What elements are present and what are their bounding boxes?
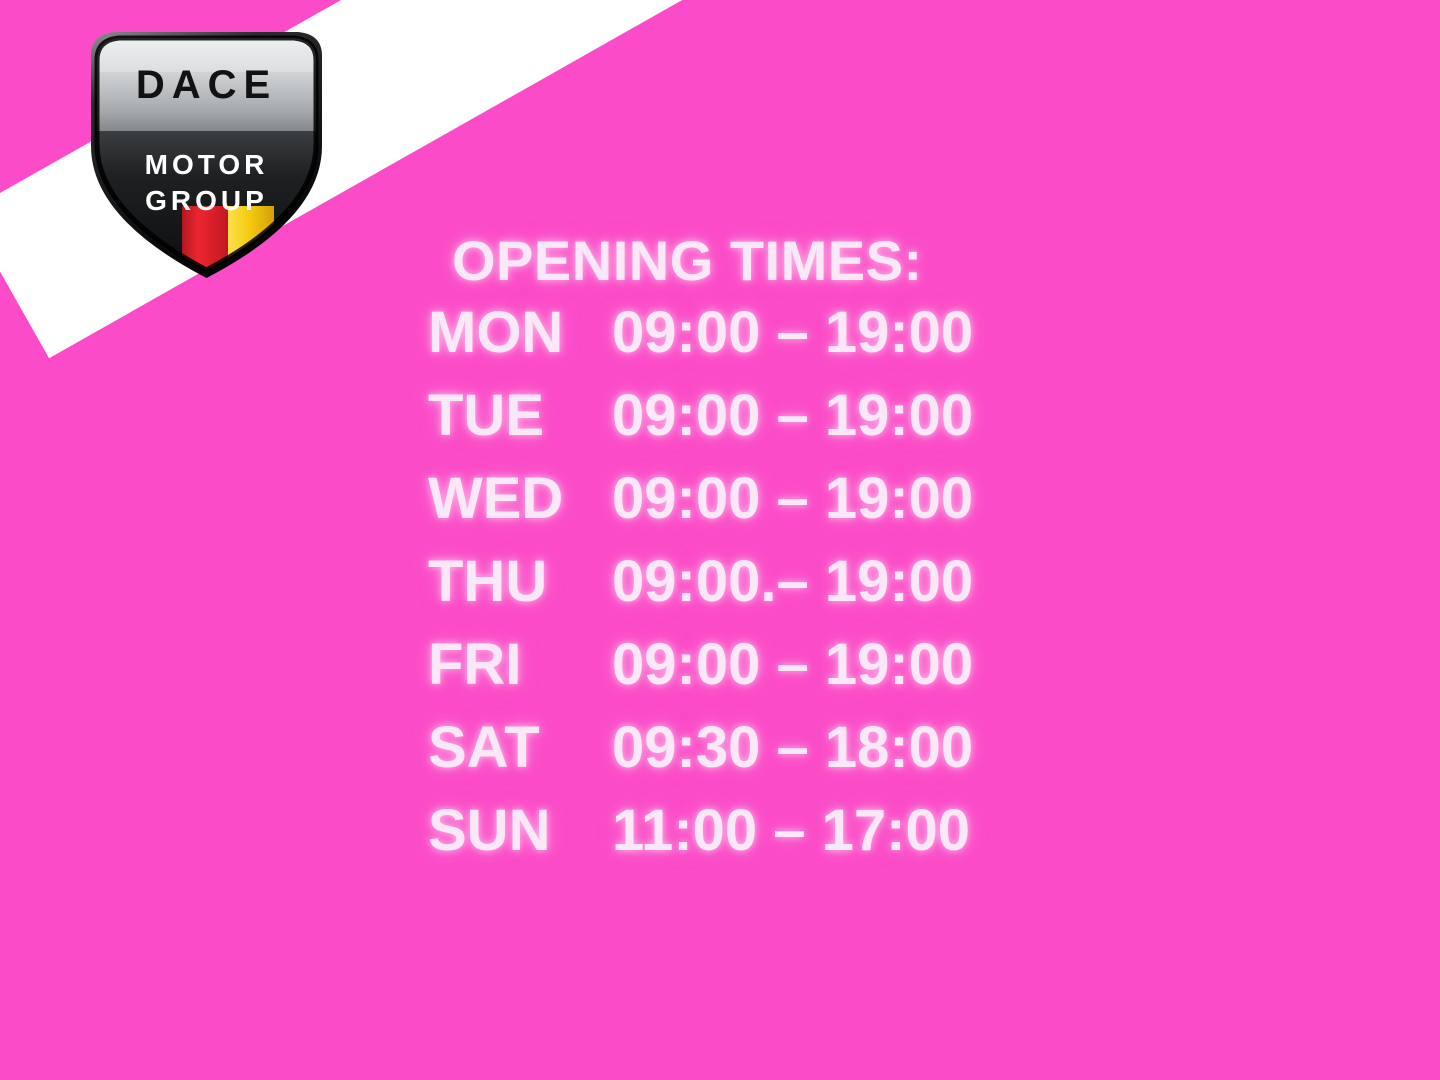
day-label: THU — [428, 548, 612, 615]
opening-times-title: OPENING TIMES: — [452, 228, 1440, 293]
day-label: MON — [428, 299, 612, 366]
opening-times-block: OPENING TIMES: MON 09:00 – 19:00 TUE 09:… — [0, 228, 1440, 880]
opening-times-poster: DACE MOTOR GROUP OPENING TIMES: MON 09:0… — [0, 0, 1440, 1080]
hours-value: 09:00 – 19:00 — [612, 382, 973, 449]
hours-value: 11:00 – 17:00 — [612, 797, 970, 864]
logo-text-dace: DACE — [136, 63, 277, 107]
logo-text-group: GROUP — [145, 185, 268, 216]
hours-value: 09:00 – 19:00 — [612, 465, 973, 532]
day-label: FRI — [428, 631, 612, 698]
hours-value: 09:30 – 18:00 — [612, 714, 973, 781]
day-label: SUN — [428, 797, 612, 864]
opening-times-row-fri: FRI 09:00 – 19:00 — [0, 631, 1440, 714]
logo-text-motor: MOTOR — [145, 149, 269, 180]
opening-times-row-thu: THU 09:00.– 19:00 — [0, 548, 1440, 631]
opening-times-row-wed: WED 09:00 – 19:00 — [0, 465, 1440, 548]
hours-value: 09:00.– 19:00 — [612, 548, 973, 615]
opening-times-row-mon: MON 09:00 – 19:00 — [0, 299, 1440, 382]
opening-times-list: MON 09:00 – 19:00 TUE 09:00 – 19:00 WED … — [0, 299, 1440, 880]
hours-value: 09:00 – 19:00 — [612, 299, 973, 366]
day-label: SAT — [428, 714, 612, 781]
day-label: TUE — [428, 382, 612, 449]
opening-times-row-sun: SUN 11:00 – 17:00 — [0, 797, 1440, 880]
day-label: WED — [428, 465, 612, 532]
opening-times-row-sat: SAT 09:30 – 18:00 — [0, 714, 1440, 797]
opening-times-row-tue: TUE 09:00 – 19:00 — [0, 382, 1440, 465]
hours-value: 09:00 – 19:00 — [612, 631, 973, 698]
